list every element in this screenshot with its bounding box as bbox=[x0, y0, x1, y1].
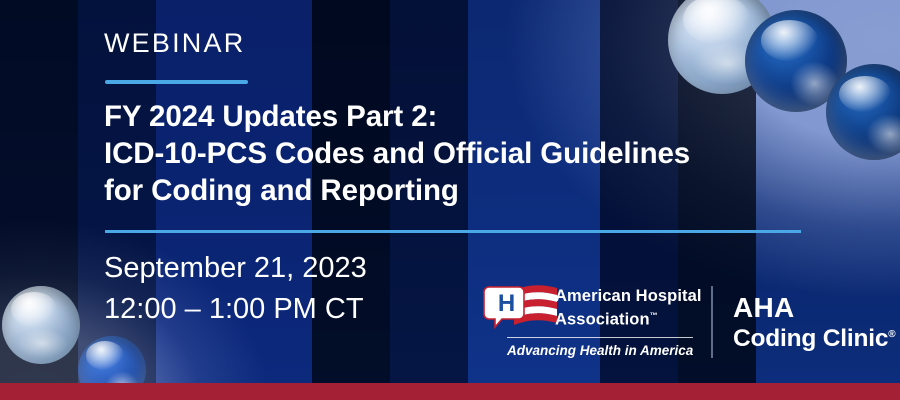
coding-clinic-aha-text: AHA bbox=[733, 294, 895, 322]
page-title: FY 2024 Updates Part 2: ICD-10-PCS Codes… bbox=[104, 98, 844, 209]
aha-logo: H American Hospital Association™ Advanci… bbox=[481, 281, 693, 361]
banner-content: WEBINAR FY 2024 Updates Part 2: ICD-10-P… bbox=[0, 0, 900, 400]
coding-clinic-name-text: Coding Clinic® bbox=[733, 327, 895, 352]
aha-tagline: Advancing Health in America bbox=[507, 343, 693, 358]
trademark-symbol: ™ bbox=[650, 311, 658, 320]
logo-vertical-divider bbox=[711, 286, 713, 358]
svg-text:H: H bbox=[498, 290, 515, 317]
eyebrow-rule bbox=[105, 80, 248, 84]
event-date: September 21, 2023 bbox=[104, 248, 367, 289]
aha-name-line-1: American Hospital bbox=[555, 287, 702, 306]
aha-name-line-2: Association™ bbox=[555, 306, 702, 330]
webinar-banner: WEBINAR FY 2024 Updates Part 2: ICD-10-P… bbox=[0, 0, 900, 400]
aha-logo-divider bbox=[507, 337, 693, 338]
headline-line-1: FY 2024 Updates Part 2: bbox=[104, 98, 844, 135]
headline-line-3: for Coding and Reporting bbox=[104, 172, 844, 209]
aha-coding-clinic-logo: AHA Coding Clinic® bbox=[733, 294, 895, 352]
eyebrow-label: WEBINAR bbox=[104, 28, 245, 59]
headline-rule bbox=[105, 230, 801, 233]
headline-line-2: ICD-10-PCS Codes and Official Guidelines bbox=[104, 135, 844, 172]
event-time: 12:00 – 1:00 PM CT bbox=[104, 289, 367, 330]
aha-logo-name: American Hospital Association™ bbox=[555, 287, 702, 330]
bottom-accent-bar bbox=[0, 383, 900, 400]
registered-symbol: ® bbox=[888, 329, 895, 340]
event-datetime: September 21, 2023 12:00 – 1:00 PM CT bbox=[104, 248, 367, 330]
